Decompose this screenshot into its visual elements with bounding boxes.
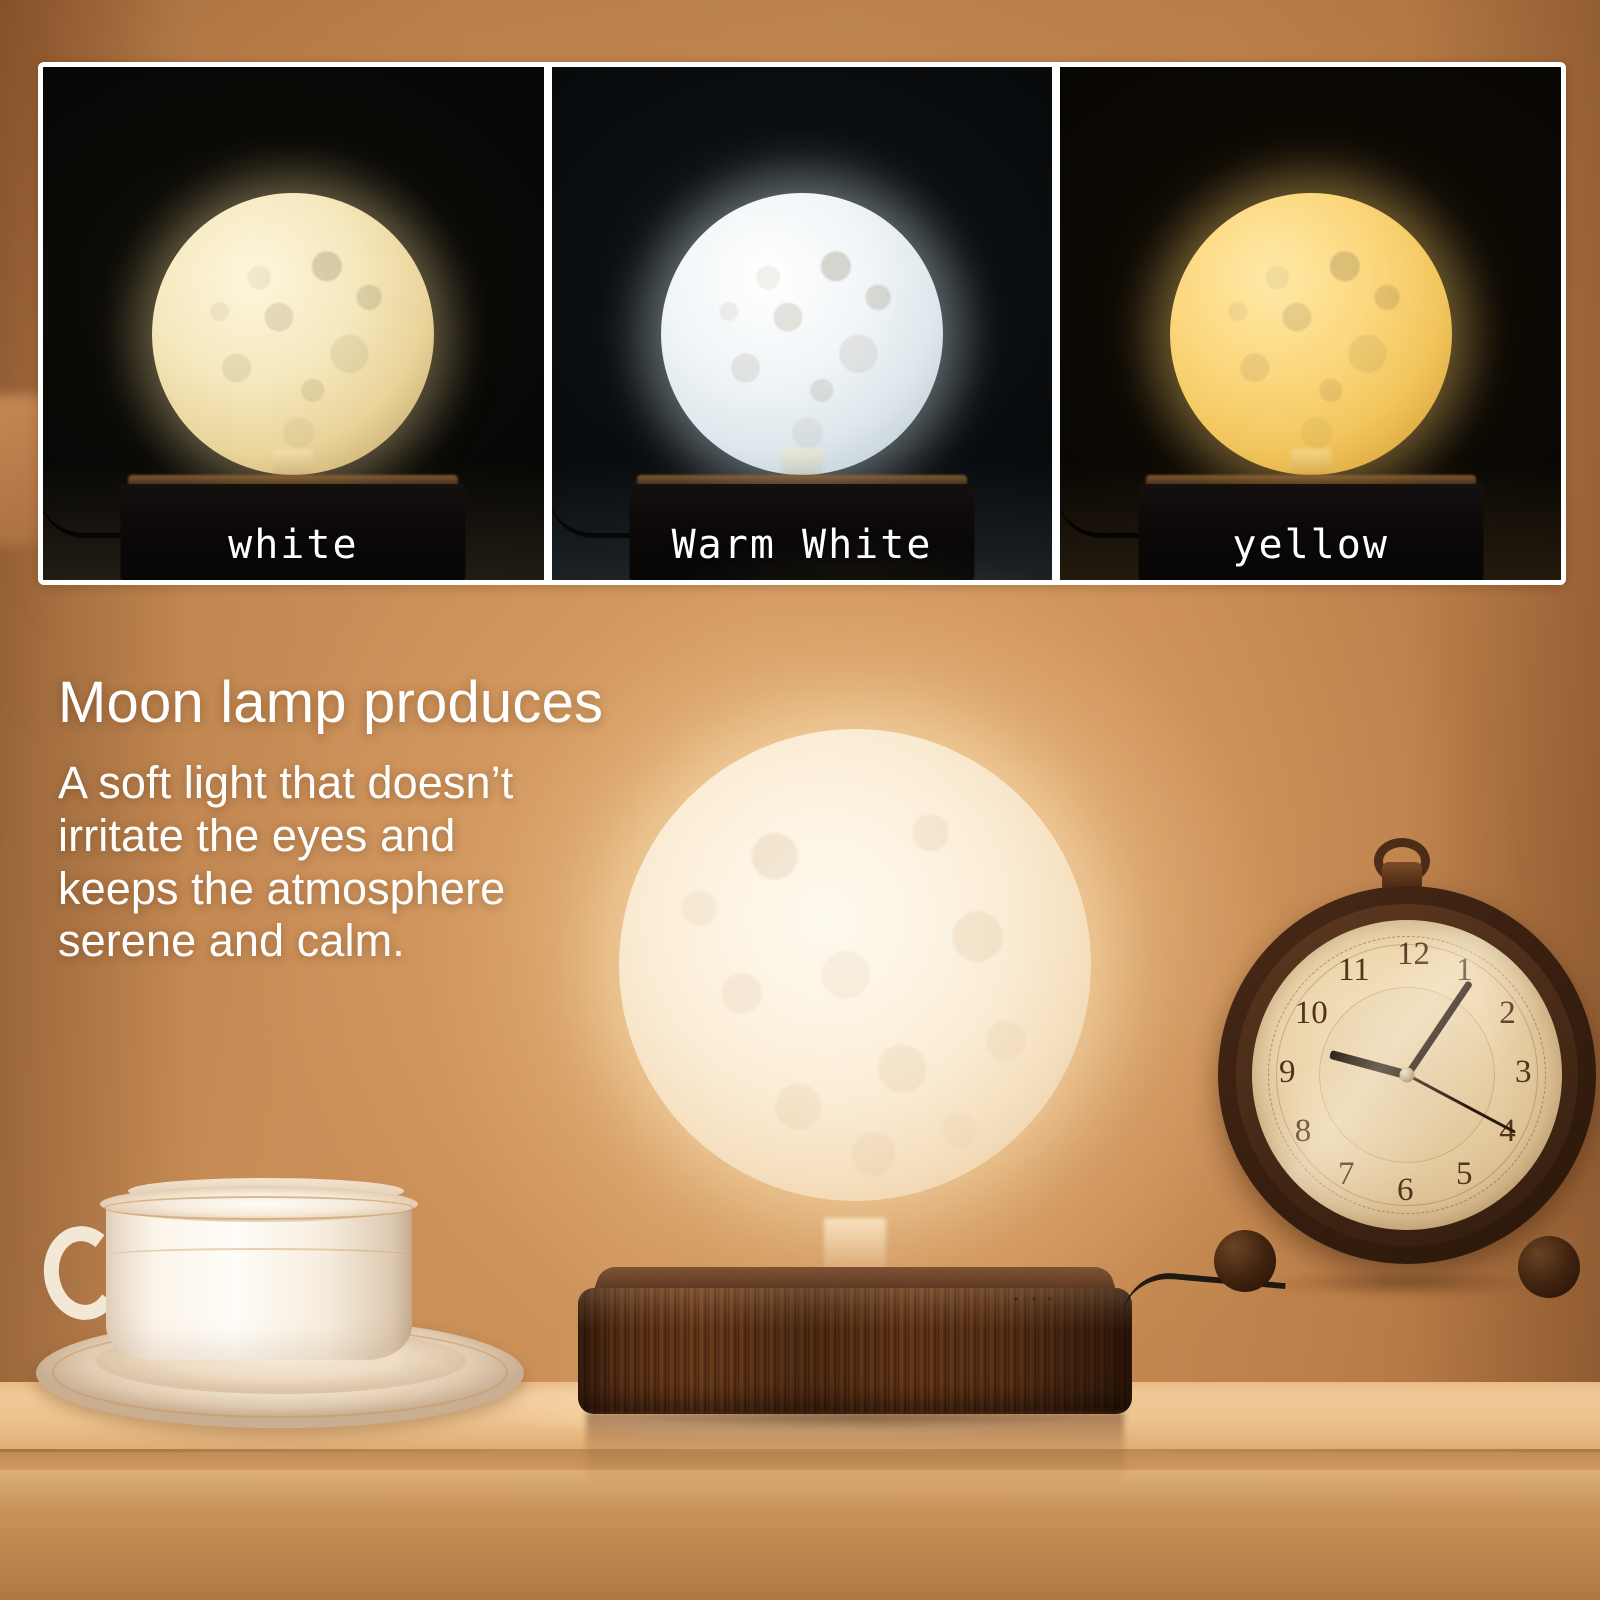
- hero-moon-lamp-sphere: [619, 729, 1091, 1201]
- lamp-wood-base: [578, 1262, 1132, 1414]
- clock-numeral-6: 6: [1397, 1172, 1414, 1209]
- teacup-gold-rim-line: [104, 1196, 414, 1220]
- levitation-gap: [1291, 449, 1331, 475]
- moon-crater-texture: [152, 193, 434, 475]
- clock-numeral-2: 2: [1499, 995, 1515, 1032]
- clock-numeral-12: 12: [1397, 936, 1430, 973]
- levitation-gap: [782, 449, 822, 475]
- moon-lamp-sphere: [661, 193, 943, 475]
- base-sheen: [578, 1288, 1132, 1414]
- clock-numeral-3: 3: [1515, 1054, 1532, 1091]
- moon-crater-texture: [661, 193, 943, 475]
- clock-foot-right: [1518, 1236, 1580, 1298]
- swatch-label-yellow: yellow: [1060, 522, 1561, 568]
- teacup-body: [106, 1198, 412, 1360]
- clock-foot-left: [1214, 1230, 1276, 1292]
- vintage-alarm-clock: 123456789101112: [1196, 838, 1600, 1350]
- color-swatch-panel-strip: white Warm White yello: [38, 62, 1566, 585]
- moon-crater-texture: [1170, 193, 1452, 475]
- base-vent-dots: [1012, 1296, 1054, 1303]
- clock-numeral-10: 10: [1295, 995, 1328, 1032]
- moon-lamp-sphere: [152, 193, 434, 475]
- clock-face: 123456789101112: [1252, 920, 1562, 1230]
- teacup-gold-band: [108, 1248, 410, 1262]
- scene-stage: white Warm White yello: [0, 0, 1600, 1600]
- moon-lamp-sphere: [1170, 193, 1452, 475]
- clock-numeral-7: 7: [1338, 1156, 1355, 1193]
- swatch-panel-yellow[interactable]: yellow: [1060, 67, 1561, 580]
- headline: Moon lamp produces: [58, 672, 758, 733]
- clock-numeral-5: 5: [1456, 1156, 1473, 1193]
- swatch-panel-white[interactable]: white: [43, 67, 544, 580]
- clock-center-pin: [1400, 1068, 1415, 1083]
- body-line-1: A soft light that doesn’t: [58, 757, 758, 810]
- swatch-label-white: white: [43, 522, 544, 568]
- swatch-label-warm-white: Warm White: [552, 522, 1053, 568]
- clock-numeral-8: 8: [1295, 1113, 1312, 1150]
- clock-numeral-11: 11: [1338, 952, 1370, 989]
- clock-numeral-9: 9: [1279, 1054, 1296, 1091]
- base-table-reflection: [586, 1412, 1124, 1490]
- moon-rim-shading: [619, 729, 1091, 1201]
- levitation-gap: [273, 449, 313, 475]
- swatch-panel-warm-white[interactable]: Warm White: [552, 67, 1053, 580]
